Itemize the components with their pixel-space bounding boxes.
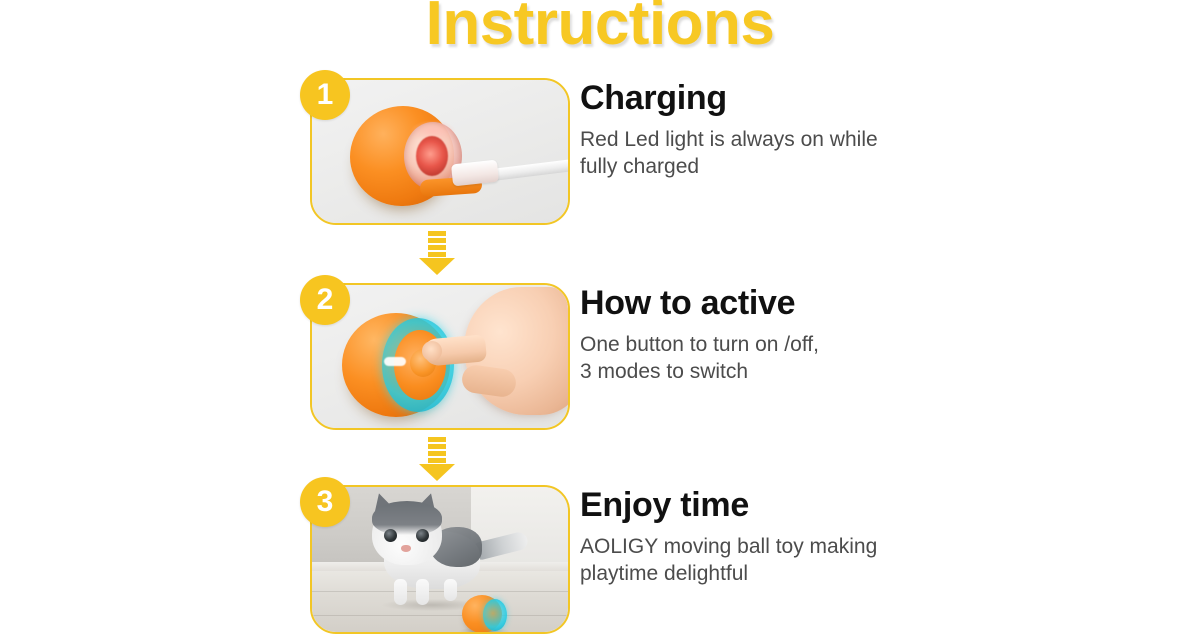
down-arrow-icon bbox=[419, 437, 455, 481]
step-heading: How to active bbox=[580, 285, 935, 322]
step-heading: Enjoy time bbox=[580, 487, 935, 524]
step-description: Red Led light is always on while fully c… bbox=[580, 127, 935, 181]
step-description: AOLIGY moving ball toy making playtime d… bbox=[580, 534, 935, 588]
hand-pressing-ball-button-photo bbox=[312, 285, 568, 428]
step-number-badge: 2 bbox=[300, 275, 350, 325]
step-number-badge: 3 bbox=[300, 477, 350, 527]
down-arrow-icon bbox=[419, 231, 455, 275]
orange-ball-usb-charging-photo bbox=[312, 80, 568, 223]
step-text-column: Enjoy time AOLIGY moving ball toy making… bbox=[580, 487, 935, 588]
kitten-playing-with-ball-photo bbox=[312, 487, 568, 632]
page-title: Instructions bbox=[0, 0, 1200, 59]
step-text-column: How to active One button to turn on /off… bbox=[580, 285, 935, 386]
step-description: One button to turn on /off, 3 modes to s… bbox=[580, 332, 935, 386]
step-number-badge: 1 bbox=[300, 70, 350, 120]
step-text-column: Charging Red Led light is always on whil… bbox=[580, 80, 935, 181]
step-heading: Charging bbox=[580, 80, 935, 117]
